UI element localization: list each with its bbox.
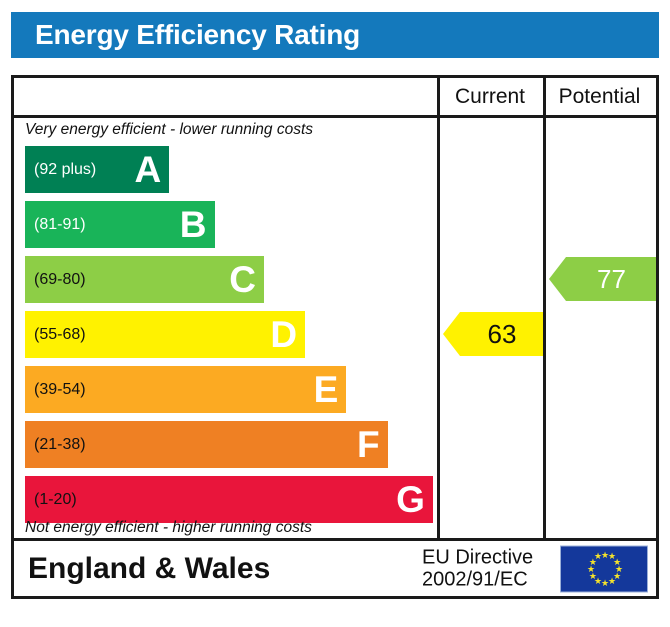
- page-title: Energy Efficiency Rating: [35, 19, 360, 51]
- band-range-e: (39-54): [34, 381, 86, 399]
- column-header-potential: Potential: [543, 78, 656, 115]
- band-range-c: (69-80): [34, 271, 86, 289]
- eu-directive-line2: 2002/91/EC: [422, 569, 533, 591]
- band-letter-g: G: [396, 481, 425, 518]
- band-row-a: (92 plus)A: [25, 146, 169, 193]
- footer-bar: England & Wales EU Directive 2002/91/EC …: [11, 541, 659, 599]
- caption-efficient: Very energy efficient - lower running co…: [25, 121, 313, 139]
- band-chart-area: Very energy efficient - lower running co…: [14, 118, 437, 541]
- rating-table: Current Potential Very energy efficient …: [11, 75, 659, 541]
- band-row-g: (1-20)G: [25, 476, 433, 523]
- rating-value-potential: 77: [579, 264, 626, 295]
- band-letter-e: E: [314, 371, 339, 408]
- rating-value-current: 63: [470, 319, 517, 350]
- band-letter-b: B: [180, 206, 207, 243]
- column-divider-current: [437, 78, 440, 538]
- band-row-f: (21-38)F: [25, 421, 388, 468]
- column-header-current: Current: [437, 78, 543, 115]
- band-range-d: (55-68): [34, 326, 86, 344]
- band-row-b: (81-91)B: [25, 201, 215, 248]
- band-letter-a: A: [134, 151, 161, 188]
- rating-arrow-current: 63: [443, 312, 543, 356]
- band-range-a: (92 plus): [34, 161, 96, 179]
- band-range-b: (81-91): [34, 216, 86, 234]
- column-header-row: Current Potential: [14, 78, 656, 118]
- band-row-d: (55-68)D: [25, 311, 305, 358]
- energy-efficiency-rating-certificate: Energy Efficiency Rating Current Potenti…: [0, 0, 670, 627]
- rating-arrow-potential: 77: [549, 257, 656, 301]
- band-letter-f: F: [357, 426, 380, 463]
- region-label: England & Wales: [28, 552, 270, 586]
- band-row-c: (69-80)C: [25, 256, 264, 303]
- eu-directive-label: EU Directive 2002/91/EC: [422, 546, 533, 591]
- band-range-f: (21-38): [34, 436, 86, 454]
- band-row-e: (39-54)E: [25, 366, 346, 413]
- caption-inefficient: Not energy efficient - higher running co…: [25, 519, 312, 537]
- band-range-g: (1-20): [34, 491, 77, 509]
- band-letter-d: D: [270, 316, 297, 353]
- band-letter-c: C: [229, 261, 256, 298]
- eu-directive-line1: EU Directive: [422, 546, 533, 568]
- eu-flag-icon: ★★★★★★★★★★★★: [560, 545, 648, 592]
- band-list: (92 plus)A(81-91)B(69-80)C(55-68)D(39-54…: [25, 146, 437, 531]
- column-divider-potential: [543, 78, 546, 538]
- title-bar: Energy Efficiency Rating: [11, 12, 659, 58]
